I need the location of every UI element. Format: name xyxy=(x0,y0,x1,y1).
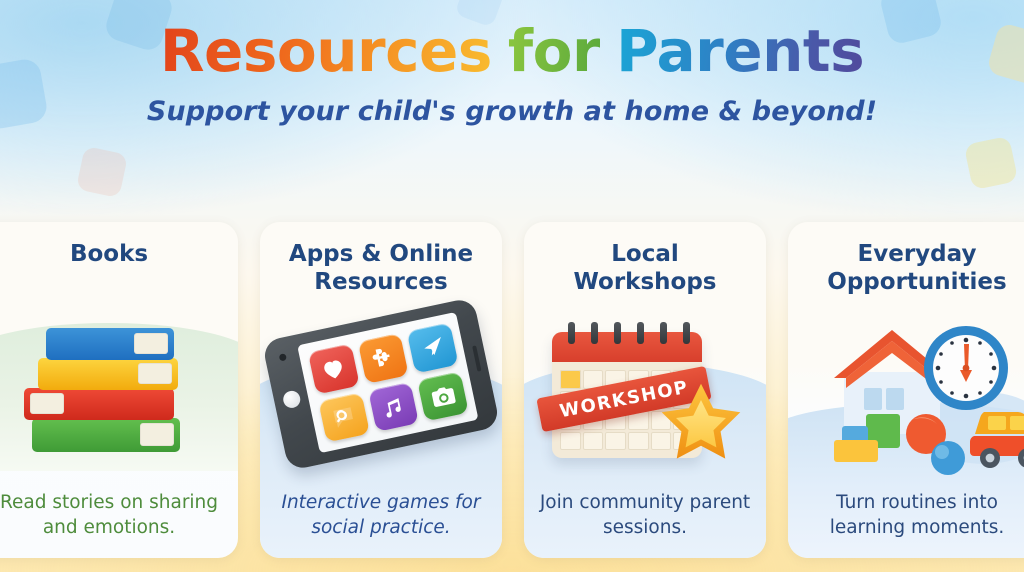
calendar-icon: WORKSHOP xyxy=(524,316,766,476)
page-subtitle: Support your child's growth at home & be… xyxy=(0,96,1024,127)
resource-card-books[interactable]: Books Read stories on sharing and emotio… xyxy=(0,222,238,558)
home-button-icon[interactable] xyxy=(282,389,302,409)
camera-app-icon[interactable] xyxy=(417,371,469,422)
card-title-apps: Apps & Online Resources xyxy=(260,222,502,296)
puzzle-app-icon[interactable] xyxy=(357,333,409,384)
deco-square-6 xyxy=(964,136,1019,191)
card-caption-everyday: Turn routines into learning moments. xyxy=(788,491,1024,540)
gold-star-icon xyxy=(658,382,744,464)
speaker-strip xyxy=(472,345,481,371)
stacked-books-icon xyxy=(0,314,238,464)
title-part-for: for xyxy=(508,22,600,80)
card-title-everyday: Everyday Opportunities xyxy=(788,222,1024,296)
resource-card-workshops[interactable]: Local Workshops xyxy=(524,222,766,558)
card-title-workshops: Local Workshops xyxy=(524,222,766,296)
resource-card-apps[interactable]: Apps & Online Resources xyxy=(260,222,502,558)
camera-dot-icon xyxy=(279,353,287,361)
heart-app-icon[interactable] xyxy=(308,343,360,394)
star-app-icon[interactable] xyxy=(407,322,459,373)
deco-square-3 xyxy=(76,146,128,198)
card-caption-books: Read stories on sharing and emotions. xyxy=(0,491,238,540)
card-title-books: Books xyxy=(0,222,238,268)
card-caption-apps: Interactive games for social practice. xyxy=(260,491,502,540)
resource-card-everyday[interactable]: Everyday Opportunities xyxy=(788,222,1024,558)
title-part-parents: Parents xyxy=(616,22,864,80)
search-app-icon[interactable] xyxy=(318,392,370,443)
resource-card-list: Books Read stories on sharing and emotio… xyxy=(0,222,1024,558)
tablet-icon xyxy=(260,310,502,470)
page-header: ResourcesforParents Support your child's… xyxy=(0,0,1024,127)
title-part-resources: Resources xyxy=(160,22,492,80)
house-scene-icon xyxy=(788,308,1024,478)
page-title: ResourcesforParents xyxy=(0,22,1024,80)
music-app-icon[interactable] xyxy=(368,381,420,432)
card-caption-workshops: Join community parent sessions. xyxy=(524,491,766,540)
